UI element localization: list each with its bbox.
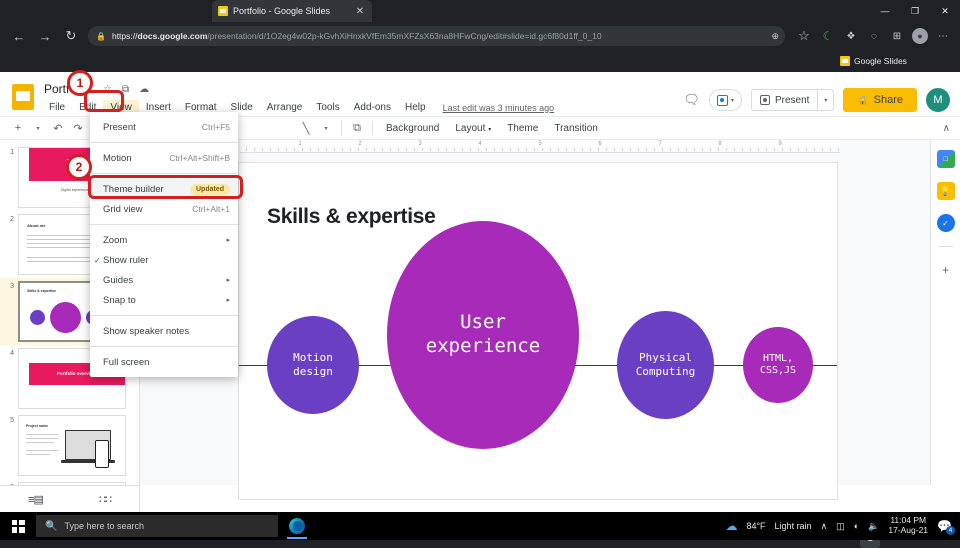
- ruler-tick: [374, 148, 375, 151]
- bubble-label: HTML, CSS,JS: [760, 353, 796, 378]
- present-options-button[interactable]: ▾: [818, 89, 834, 111]
- ruler-tick: [614, 148, 615, 151]
- ruler-tick: [806, 148, 807, 151]
- ruler-tick: [574, 148, 575, 151]
- menu-item-full-screen[interactable]: Full screen: [90, 352, 238, 372]
- editor-canvas-area: 123456789 Skills & expertise Motion desi…: [140, 140, 930, 485]
- clock[interactable]: 11:04 PM 17-Aug-21: [888, 516, 928, 536]
- more-options-icon[interactable]: ⋯: [932, 25, 954, 47]
- layout-label: Layout: [455, 123, 485, 134]
- address-bar[interactable]: 🔒 https://docs.google.com/presentation/d…: [88, 26, 785, 46]
- chevron-down-icon: ▾: [488, 127, 491, 133]
- windows-taskbar: 🔍 Type here to search ☁ 84°F Light rain …: [0, 512, 960, 540]
- annotation-marker-2: 2: [66, 154, 92, 180]
- ruler-number: 2: [358, 141, 361, 147]
- ruler-tick: [454, 148, 455, 151]
- menu-item-guides[interactable]: Guides ▸: [90, 270, 238, 290]
- menu-item-label: Show speaker notes: [103, 326, 230, 337]
- menu-item-present[interactable]: Present Ctrl+F5: [90, 117, 238, 137]
- thumb-heading: Skills & expertise: [27, 289, 56, 293]
- start-button[interactable]: [0, 512, 36, 540]
- minimize-icon[interactable]: —: [870, 0, 900, 22]
- star-icon[interactable]: ☆: [103, 84, 112, 95]
- ruler-tick: [286, 148, 287, 151]
- ruler-tick: [766, 148, 767, 151]
- ruler-tick: [622, 148, 623, 151]
- thumb-bubble: [30, 310, 45, 325]
- ruler-tick: [518, 148, 519, 151]
- ruler-tick: [302, 148, 303, 151]
- bubble-physical-computing[interactable]: Physical Computing: [617, 311, 714, 419]
- forward-icon[interactable]: →: [32, 24, 58, 48]
- menu-addons[interactable]: Add-ons: [347, 100, 398, 115]
- window-controls: — ❐ ✕: [870, 0, 960, 22]
- browser-navbar: ← → ↻ 🔒 https://docs.google.com/presenta…: [0, 22, 960, 50]
- notification-count: 4: [946, 526, 955, 535]
- slide-editor[interactable]: Skills & expertise Motion design User ex…: [238, 162, 838, 500]
- ruler-tick: [350, 148, 351, 151]
- presentation-mode-toggle[interactable]: ▾: [709, 89, 742, 111]
- submenu-arrow-icon: ▸: [226, 296, 230, 304]
- ruler-tick: [270, 148, 271, 151]
- bubble-label: User experience: [426, 311, 540, 359]
- divider: [372, 121, 373, 135]
- thumb-textline: [26, 454, 50, 455]
- url-path: /presentation/d/1O2eg4w02p-kGvhXiHnxkVfE…: [207, 31, 601, 41]
- ruler-tick: [478, 148, 479, 151]
- extension-gray-icon[interactable]: ❖: [840, 25, 862, 47]
- ruler-tick: [694, 148, 695, 151]
- ruler-tick: [358, 148, 359, 151]
- ruler-tick: [310, 148, 311, 151]
- thumb-heading: Project name: [26, 424, 48, 428]
- ruler-tick: [318, 148, 319, 151]
- ruler-tick: [670, 148, 671, 151]
- menu-item-show-ruler[interactable]: ✓ Show ruler: [90, 250, 238, 270]
- tab-title: Portfolio - Google Slides: [233, 6, 349, 16]
- divider: [341, 121, 342, 135]
- slides-header: Portfolio ☆ ⧉ ☁ File Edit View Insert Fo…: [0, 72, 960, 116]
- menu-arrange[interactable]: Arrange: [260, 100, 310, 115]
- thumb-textline: [26, 442, 54, 443]
- thumb-textline: [26, 450, 58, 451]
- favorite-icon[interactable]: ☆: [791, 24, 817, 48]
- menu-item-label: Motion: [103, 153, 169, 164]
- divider: [939, 246, 953, 247]
- ruler-number: 5: [538, 141, 541, 147]
- ruler-tick: [278, 148, 279, 151]
- ruler-number: 7: [658, 141, 661, 147]
- ruler-tick: [830, 148, 831, 151]
- check-icon: ✓: [94, 256, 101, 265]
- menu-item-show-speaker-notes[interactable]: Show speaker notes: [90, 321, 238, 341]
- ruler-tick: [502, 148, 503, 151]
- ruler-tick: [646, 148, 647, 151]
- edge-icon: [289, 518, 305, 534]
- windows-logo-icon: [12, 520, 25, 533]
- menu-item-snap-to[interactable]: Snap to ▸: [90, 290, 238, 310]
- ruler-tick: [630, 148, 631, 151]
- network-icon[interactable]: ◐: [854, 521, 859, 531]
- thumb-textline: [26, 434, 58, 435]
- menu-item-label: Guides: [103, 275, 226, 286]
- ruler-tick: [814, 148, 815, 151]
- ruler-tick: [446, 148, 447, 151]
- browser-titlebar: Portfolio - Google Slides ✕ — ❐ ✕: [0, 0, 960, 22]
- menu-item-shortcut: Ctrl+Alt+1: [192, 204, 230, 214]
- present-button[interactable]: Present: [751, 89, 818, 111]
- thumb-bubble: [50, 302, 81, 333]
- search-zoom-icon[interactable]: ⊕: [771, 31, 779, 42]
- line-options-icon[interactable]: ▾: [316, 118, 336, 138]
- header-actions: 🗨 ▾ Present ▾ 🔒 Share M: [683, 88, 950, 112]
- ruler-tick: [510, 148, 511, 151]
- url-domain: docs.google.com: [138, 31, 208, 41]
- ruler-tick: [366, 148, 367, 151]
- ruler-number: 3: [418, 141, 421, 147]
- submenu-arrow-icon: ▸: [226, 276, 230, 284]
- menu-item-theme-builder[interactable]: Theme builder Updated: [90, 179, 238, 199]
- cloud-icon[interactable]: ☁: [139, 84, 149, 95]
- menu-divider: [90, 346, 238, 347]
- url-text: https://docs.google.com/presentation/d/1…: [112, 31, 602, 41]
- ruler-tick: [262, 148, 263, 151]
- weather-temp[interactable]: 84°F: [746, 521, 765, 531]
- menu-item-label: Show ruler: [103, 255, 230, 266]
- browser-tab[interactable]: Portfolio - Google Slides ✕: [212, 0, 372, 22]
- bookmark-google-slides[interactable]: Google Slides: [840, 56, 907, 66]
- thumb-heading: About me: [27, 223, 45, 228]
- battery-icon[interactable]: ◫: [836, 521, 845, 532]
- bubble-label: Physical Computing: [636, 351, 696, 379]
- title-actions: ☆ ⧉ ☁: [103, 84, 149, 95]
- ruler-tick: [686, 148, 687, 151]
- slide-heading[interactable]: Skills & expertise: [267, 205, 436, 229]
- slides-bookmark-icon: [840, 56, 850, 66]
- clock-time: 11:04 PM: [890, 515, 926, 525]
- search-placeholder: Type here to search: [64, 521, 144, 531]
- ruler-tick: [438, 148, 439, 151]
- notifications-icon[interactable]: 💬4: [937, 519, 952, 533]
- menu-item-motion[interactable]: Motion Ctrl+Alt+Shift+B: [90, 148, 238, 168]
- menu-divider: [90, 142, 238, 143]
- screen: Portfolio - Google Slides ✕ — ❐ ✕ ← → ↻ …: [0, 0, 960, 540]
- calendar-icon[interactable]: □: [937, 150, 955, 168]
- ruler-number: 4: [478, 141, 481, 147]
- menu-item-label: Full screen: [103, 357, 230, 368]
- move-icon[interactable]: ⧉: [122, 84, 129, 95]
- menu-item-grid-view[interactable]: Grid view Ctrl+Alt+1: [90, 199, 238, 219]
- ruler-tick: [598, 148, 599, 151]
- ruler-tick: [398, 148, 399, 151]
- filmstrip-slide-5[interactable]: 5 Project name: [0, 412, 139, 479]
- tray-expand-icon[interactable]: ∧: [821, 521, 828, 532]
- ruler-number: 1: [298, 141, 301, 147]
- account-avatar[interactable]: M: [926, 88, 950, 112]
- bubble-label: Motion design: [293, 351, 333, 379]
- tasks-icon[interactable]: ✓: [937, 214, 955, 232]
- redo-icon[interactable]: ↷: [68, 118, 88, 138]
- ruler-tick: [566, 148, 567, 151]
- menu-item-label: Present: [103, 122, 202, 133]
- slideshow-icon: [717, 95, 728, 106]
- new-slide-options-icon[interactable]: ▾: [28, 118, 48, 138]
- lock-icon: 🔒: [96, 32, 106, 41]
- menu-item-zoom[interactable]: Zoom ▸: [90, 230, 238, 250]
- ruler-tick: [334, 148, 335, 151]
- ruler-tick: [494, 148, 495, 151]
- google-side-panel: □ 💡 ✓ +: [930, 140, 960, 485]
- grid-view-icon[interactable]: ∷∷: [99, 493, 111, 506]
- updated-badge: Updated: [190, 184, 230, 195]
- add-addon-icon[interactable]: +: [937, 261, 955, 279]
- url-separator: ://: [130, 31, 137, 41]
- slides-favicon-icon: [218, 6, 228, 16]
- collapse-toolbar-icon[interactable]: ∧: [943, 123, 950, 134]
- extension-green-icon[interactable]: ☾: [817, 25, 839, 47]
- ruler-tick: [838, 148, 839, 151]
- collections-icon[interactable]: ◌: [863, 25, 885, 47]
- menu-file[interactable]: File: [42, 100, 72, 115]
- share-button[interactable]: 🔒 Share: [843, 88, 917, 112]
- ruler-tick: [678, 148, 679, 151]
- ruler-number: 8: [718, 141, 721, 147]
- menu-help[interactable]: Help: [398, 100, 433, 115]
- profile-avatar[interactable]: ●: [909, 25, 931, 47]
- bookmark-label: Google Slides: [854, 56, 907, 66]
- ruler-tick: [526, 148, 527, 151]
- submenu-arrow-icon: ▸: [226, 236, 230, 244]
- menu-item-shortcut: Ctrl+F5: [202, 122, 230, 132]
- browser-extensions: ☾ ❖ ◌ ⊞ ● ⋯: [817, 25, 954, 47]
- search-icon: 🔍: [45, 521, 57, 532]
- ruler-tick: [430, 148, 431, 151]
- view-dropdown-menu[interactable]: Present Ctrl+F5 Motion Ctrl+Alt+Shift+B …: [90, 112, 238, 377]
- theme-button[interactable]: Theme: [499, 121, 546, 136]
- ruler-tick: [254, 148, 255, 151]
- ruler-tick: [638, 148, 639, 151]
- ruler-tick: [606, 148, 607, 151]
- ruler-number: 6: [598, 141, 601, 147]
- ruler-tick: [326, 148, 327, 151]
- lock-icon: 🔒: [857, 95, 868, 106]
- weather-desc[interactable]: Light rain: [775, 521, 812, 531]
- window-close-icon[interactable]: ✕: [930, 0, 960, 22]
- ruler-tick: [342, 148, 343, 151]
- ruler-tick: [422, 148, 423, 151]
- browser-chrome: Portfolio - Google Slides ✕ — ❐ ✕ ← → ↻ …: [0, 0, 960, 72]
- ruler-tick: [590, 148, 591, 151]
- ruler-tick: [558, 148, 559, 151]
- ruler-tick: [790, 148, 791, 151]
- ruler-tick: [718, 148, 719, 151]
- menu-item-shortcut: Ctrl+Alt+Shift+B: [169, 153, 230, 163]
- back-icon[interactable]: ←: [6, 24, 32, 48]
- ruler-tick: [470, 148, 471, 151]
- weather-icon: ☁: [725, 519, 737, 533]
- omnibox-actions: ⊕: [771, 31, 779, 42]
- taskbar-app-edge[interactable]: [278, 512, 316, 540]
- menu-divider: [90, 315, 238, 316]
- close-icon[interactable]: ✕: [354, 6, 366, 17]
- chevron-down-icon: ▾: [731, 97, 734, 104]
- ruler-tick: [406, 148, 407, 151]
- ruler-tick: [542, 148, 543, 151]
- ruler-tick: [774, 148, 775, 151]
- slide-number: 3: [2, 281, 14, 290]
- volume-icon[interactable]: 🔈: [868, 521, 879, 532]
- ruler-tick: [382, 148, 383, 151]
- slide-number: 2: [2, 214, 14, 223]
- menu-item-label: Theme builder: [103, 184, 190, 195]
- ruler-tick: [414, 148, 415, 151]
- thumb-textline: [26, 438, 58, 439]
- layout-button[interactable]: Layout ▾: [447, 121, 499, 136]
- thumb-phone-icon: [95, 440, 109, 468]
- share-label: Share: [874, 94, 903, 106]
- bubble-user-experience[interactable]: User experience: [387, 221, 579, 449]
- menu-item-label: Snap to: [103, 295, 226, 306]
- present-icon: [760, 95, 770, 105]
- ruler-tick: [462, 148, 463, 151]
- ruler-tick: [822, 148, 823, 151]
- clock-date: 17-Aug-21: [888, 525, 928, 535]
- ruler-tick: [486, 148, 487, 151]
- bubble-html-css-js[interactable]: HTML, CSS,JS: [743, 327, 813, 403]
- ruler-tick: [734, 148, 735, 151]
- maximize-icon[interactable]: ❐: [900, 0, 930, 22]
- slide-number: 4: [2, 348, 14, 357]
- ruler-number: 9: [778, 141, 781, 147]
- line-icon[interactable]: ╲: [296, 118, 316, 138]
- menu-divider: [90, 224, 238, 225]
- bubble-motion-design[interactable]: Motion design: [267, 316, 359, 414]
- transition-button[interactable]: Transition: [546, 121, 606, 136]
- horizontal-ruler[interactable]: 123456789: [240, 140, 840, 153]
- annotation-marker-1: 1: [67, 70, 93, 96]
- undo-icon[interactable]: ↶: [48, 118, 68, 138]
- ruler-tick: [702, 148, 703, 151]
- ruler-tick: [782, 148, 783, 151]
- ruler-tick: [294, 148, 295, 151]
- ruler-tick: [390, 148, 391, 151]
- thumb-textline: [27, 261, 97, 262]
- ruler-tick: [710, 148, 711, 151]
- ruler-tick: [654, 148, 655, 151]
- slide-thumbnail[interactable]: Project name: [18, 415, 126, 476]
- slides-app-icon: [12, 84, 34, 110]
- menu-item-label: Grid view: [103, 204, 192, 215]
- insert-image-icon[interactable]: ⧉: [347, 118, 367, 138]
- ruler-tick: [662, 148, 663, 151]
- avatar: ●: [912, 28, 928, 44]
- ruler-tick: [726, 148, 727, 151]
- url-scheme: https: [112, 31, 130, 41]
- new-slide-icon[interactable]: +: [8, 118, 28, 138]
- menu-item-label: Zoom: [103, 235, 226, 246]
- comment-history-icon[interactable]: 🗨: [683, 92, 700, 108]
- ruler-tick: [758, 148, 759, 151]
- system-tray: ☁ 84°F Light rain ∧ ◫ ◐ 🔈 11:04 PM 17-Au…: [725, 516, 960, 536]
- slide-number: 1: [2, 147, 14, 156]
- menu-divider: [90, 173, 238, 174]
- present-group: Present ▾: [751, 89, 834, 111]
- chevron-down-icon: ▾: [824, 97, 827, 104]
- ruler-tick: [246, 148, 247, 151]
- filmstrip-view-icon[interactable]: ≡▤: [28, 493, 43, 506]
- taskbar-search-input[interactable]: 🔍 Type here to search: [36, 515, 278, 537]
- reload-icon[interactable]: ↻: [58, 24, 84, 48]
- add-tab-group-icon[interactable]: ⊞: [886, 25, 908, 47]
- keep-icon[interactable]: 💡: [937, 182, 955, 200]
- background-button[interactable]: Background: [378, 121, 447, 136]
- ruler-tick: [534, 148, 535, 151]
- filmstrip-footer: ≡▤ ∷∷: [0, 485, 140, 512]
- menu-tools[interactable]: Tools: [309, 100, 346, 115]
- ruler-tick: [550, 148, 551, 151]
- ruler-tick: [798, 148, 799, 151]
- ruler-tick: [750, 148, 751, 151]
- ruler-tick: [582, 148, 583, 151]
- bookmarks-bar: Google Slides: [0, 50, 960, 72]
- present-label: Present: [775, 95, 809, 106]
- ruler-tick: [742, 148, 743, 151]
- slide-number: 5: [2, 415, 14, 424]
- last-edit-status[interactable]: Last edit was 3 minutes ago: [443, 103, 555, 113]
